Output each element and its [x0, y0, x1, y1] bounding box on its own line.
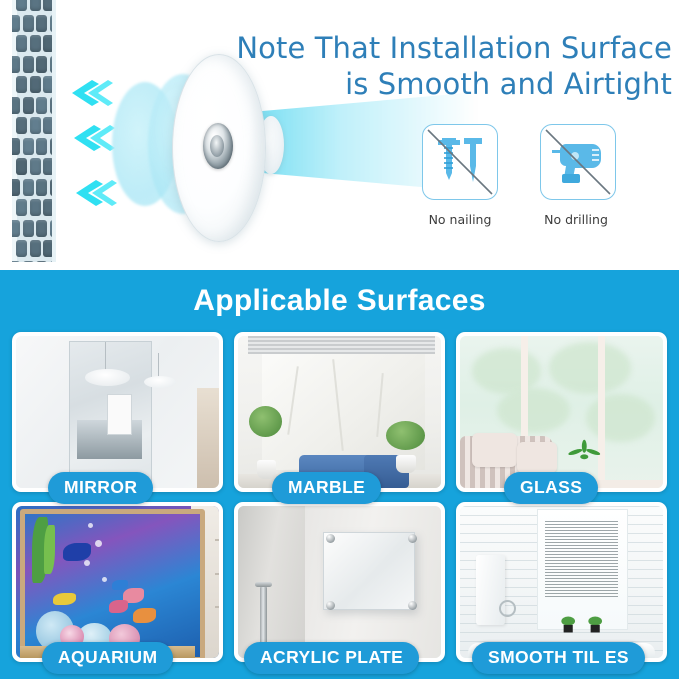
brick: [23, 15, 34, 32]
brick: [16, 117, 27, 134]
foliage: [249, 406, 282, 437]
brick: [16, 76, 27, 93]
no-nailing-icon: [422, 124, 498, 200]
brick: [12, 15, 20, 32]
brick-pattern: [12, 0, 56, 262]
surface-tile-mirror[interactable]: MIRROR: [12, 332, 223, 492]
brick: [30, 0, 41, 11]
acrylic-plate: [323, 532, 414, 610]
brick: [36, 56, 47, 73]
fish: [63, 543, 91, 562]
brick: [12, 261, 20, 263]
shelf: [215, 539, 218, 541]
tile-photo: [16, 506, 219, 658]
cushion: [472, 433, 517, 466]
brick: [36, 15, 47, 32]
lamp-cord: [158, 353, 159, 377]
foliage-blur: [497, 388, 570, 434]
shelf: [215, 606, 218, 608]
no-drilling-label: No drilling: [536, 212, 616, 227]
window-mullion: [598, 336, 605, 488]
surface-grid: MIRROR: [12, 332, 667, 672]
restriction-icons: No nailing: [412, 124, 662, 250]
brick-wall-texture: [12, 0, 56, 262]
plant-pot: [257, 460, 277, 479]
brick: [12, 220, 20, 237]
fern-plant: [566, 439, 603, 463]
foliage-blur: [472, 348, 541, 394]
lamp-cord: [105, 342, 106, 372]
surface-tile-aquarium[interactable]: AQUARIUM: [12, 502, 223, 662]
no-drilling-icon: [540, 124, 616, 200]
surface-tile-glass[interactable]: GLASS: [456, 332, 667, 492]
surface-label-smooth-tiles: SMOOTH TIL ES: [472, 642, 645, 674]
foliage: [386, 421, 425, 450]
brick: [23, 179, 34, 196]
brick: [30, 35, 41, 52]
brick: [12, 179, 20, 196]
potted-plant: [582, 615, 608, 633]
surface-tile-acrylic-plate[interactable]: ACRYLIC PLATE: [234, 502, 445, 662]
scene-aquarium: [16, 506, 219, 658]
scene-mirror: [16, 336, 219, 488]
brick: [36, 220, 47, 237]
marble-vein: [377, 373, 385, 436]
wall-picture-frame: [107, 394, 131, 436]
marble-vein: [332, 359, 344, 451]
bubble: [102, 577, 107, 582]
page-title: Note That Installation Surface is Smooth…: [180, 30, 672, 102]
brick: [16, 199, 27, 216]
brick: [30, 240, 41, 257]
brick: [23, 220, 34, 237]
brick: [30, 117, 41, 134]
plant-pot: [396, 455, 417, 473]
surface-row: MIRROR: [12, 332, 667, 502]
ceiling-slats: [248, 336, 435, 354]
brick: [12, 56, 20, 73]
brick: [23, 138, 34, 155]
surface-tile-marble[interactable]: MARBLE: [234, 332, 445, 492]
brick: [30, 199, 41, 216]
product-infographic: Note That Installation Surface is Smooth…: [0, 0, 679, 679]
brick: [16, 158, 27, 175]
strike-through-line: [540, 124, 616, 200]
brick: [36, 138, 47, 155]
wall-edge-right: [52, 0, 56, 262]
fish: [109, 600, 128, 613]
scene-glass: [460, 336, 663, 488]
standoff-screw: [408, 534, 417, 543]
brick: [16, 0, 27, 11]
surface-tile-smooth-tiles[interactable]: SMOOTH TIL ES: [456, 502, 667, 662]
surface-label-acrylic-plate: ACRYLIC PLATE: [244, 642, 419, 674]
brick: [23, 97, 34, 114]
top-illustration-section: Note That Installation Surface is Smooth…: [0, 0, 679, 270]
standoff-screw: [408, 601, 417, 610]
brick: [12, 97, 20, 114]
bubble: [84, 560, 90, 566]
pendant-lamp: [85, 369, 130, 386]
section-title: Applicable Surfaces: [0, 284, 679, 318]
foliage-blur: [586, 394, 655, 443]
no-drilling-item: No drilling: [540, 124, 616, 227]
no-nailing-label: No nailing: [422, 212, 498, 227]
potted-tree: [246, 406, 291, 479]
brick: [23, 56, 34, 73]
applicable-surfaces-section: Applicable Surfaces: [0, 270, 679, 679]
potted-plant: [384, 421, 429, 473]
aquatic-plant: [44, 525, 54, 574]
tile-photo: [460, 506, 663, 658]
towel-hook: [499, 600, 516, 617]
scene-tiles: [460, 506, 663, 658]
surface-label-mirror: MIRROR: [48, 472, 153, 504]
no-nailing-item: No nailing: [422, 124, 498, 227]
bubble: [95, 540, 102, 547]
strike-through-line: [422, 124, 498, 200]
scene-acrylic: [238, 506, 441, 658]
surface-label-marble: MARBLE: [272, 472, 381, 504]
fish: [133, 608, 156, 622]
brick: [36, 97, 47, 114]
fish: [112, 580, 128, 590]
cushion: [517, 442, 558, 472]
window-privacy-film: [545, 521, 618, 597]
brick: [16, 240, 27, 257]
tile-photo: [460, 336, 663, 488]
doorway: [197, 388, 219, 488]
surface-label-aquarium: AQUARIUM: [42, 642, 173, 674]
tile-photo: [238, 506, 441, 658]
brick: [36, 261, 47, 263]
pendant-lamp: [144, 376, 176, 388]
tile-photo: [238, 336, 441, 488]
brick: [36, 179, 47, 196]
shelf: [215, 573, 218, 575]
brick: [23, 261, 34, 263]
potted-plant: [555, 615, 581, 633]
surface-row: AQUARIUM ACRYLIC P: [12, 502, 667, 672]
brick: [30, 76, 41, 93]
brick: [30, 158, 41, 175]
fish-tank: [20, 509, 205, 658]
scene-marble: [238, 336, 441, 488]
suction-cup-knob: [203, 123, 233, 169]
bubble: [88, 523, 93, 528]
headline-line-2: is Smooth and Airtight: [180, 66, 672, 102]
brick: [12, 138, 20, 155]
headline-line-1: Note That Installation Surface: [236, 31, 672, 65]
tile-photo: [16, 336, 219, 488]
surface-label-glass: GLASS: [504, 472, 598, 504]
fish: [53, 593, 76, 606]
foliage-blur: [549, 342, 630, 394]
brick: [16, 35, 27, 52]
